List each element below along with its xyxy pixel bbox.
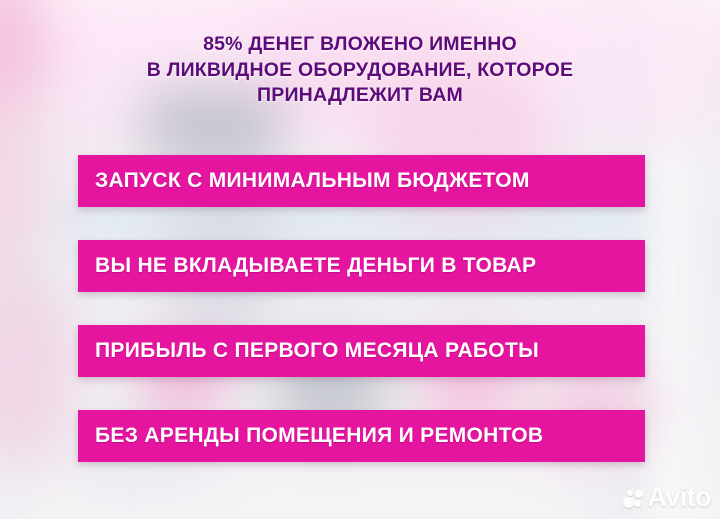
headline-line-1: 85% ДЕНЕГ ВЛОЖЕНО ИМЕННО: [0, 32, 720, 58]
benefit-bar-label: БЕЗ АРЕНДЫ ПОМЕЩЕНИЯ И РЕМОНТОВ: [78, 424, 543, 448]
headline-line-3: ПРИНАДЛЕЖИТ ВАМ: [0, 83, 720, 109]
benefit-bar-label: ПРИБЫЛЬ С ПЕРВОГО МЕСЯЦА РАБОТЫ: [78, 339, 539, 363]
headline: 85% ДЕНЕГ ВЛОЖЕНО ИМЕННО В ЛИКВИДНОЕ ОБО…: [0, 32, 720, 109]
promo-banner: 85% ДЕНЕГ ВЛОЖЕНО ИМЕННО В ЛИКВИДНОЕ ОБО…: [0, 0, 720, 519]
benefit-bar-list: ЗАПУСК С МИНИМАЛЬНЫМ БЮДЖЕТОМ ВЫ НЕ ВКЛА…: [78, 155, 645, 462]
avito-wordmark: Avito: [648, 484, 712, 511]
headline-line-2: В ЛИКВИДНОЕ ОБОРУДОВАНИЕ, КОТОРОЕ: [0, 58, 720, 84]
benefit-bar-label: ВЫ НЕ ВКЛАДЫВАЕТЕ ДЕНЬГИ В ТОВАР: [78, 254, 536, 278]
benefit-bar: ПРИБЫЛЬ С ПЕРВОГО МЕСЯЦА РАБОТЫ: [78, 325, 645, 377]
benefit-bar-label: ЗАПУСК С МИНИМАЛЬНЫМ БЮДЖЕТОМ: [78, 169, 530, 193]
benefit-bar: БЕЗ АРЕНДЫ ПОМЕЩЕНИЯ И РЕМОНТОВ: [78, 410, 645, 462]
avito-dots-icon: [623, 487, 645, 509]
benefit-bar: ЗАПУСК С МИНИМАЛЬНЫМ БЮДЖЕТОМ: [78, 155, 645, 207]
avito-watermark: Avito: [623, 484, 712, 511]
benefit-bar: ВЫ НЕ ВКЛАДЫВАЕТЕ ДЕНЬГИ В ТОВАР: [78, 240, 645, 292]
